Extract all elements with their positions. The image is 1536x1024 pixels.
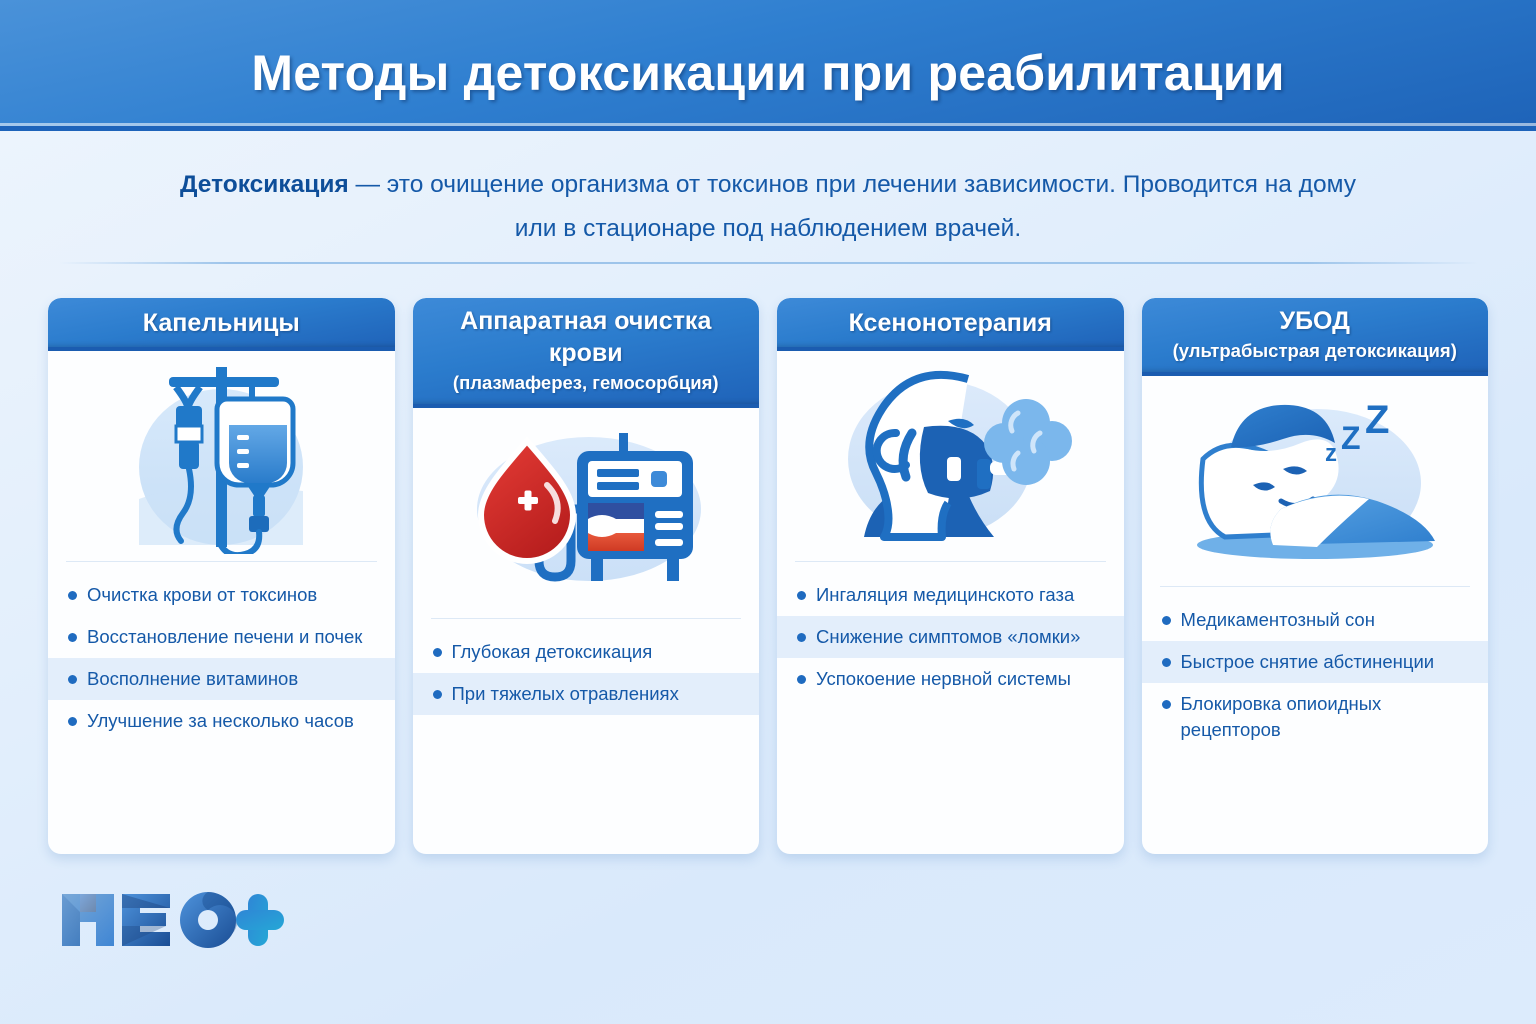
bullet-text: Медикаментозный сон xyxy=(1181,607,1475,633)
header-banner: Методы детоксикации при реабилитации xyxy=(0,0,1536,131)
bullet-text: Восстановление печени и почек xyxy=(87,624,381,650)
neo-plus-logo[interactable] xyxy=(58,886,298,952)
iv-drip-icon xyxy=(48,351,395,561)
list-item: Улучшение за несколько часов xyxy=(48,700,395,742)
bullet-dot-icon xyxy=(433,648,442,657)
list-item: Быстрое снятие абстиненции xyxy=(1142,641,1489,683)
list-item: При тяжелых отравлениях xyxy=(413,673,760,715)
benefit-list: Глубокая детоксикация При тяжелых отравл… xyxy=(413,619,760,854)
bullet-text: Очистка крови от токсинов xyxy=(87,582,381,608)
card-header-xenon-therapy: Ксенонотерапия xyxy=(777,298,1124,351)
bullet-dot-icon xyxy=(68,591,77,600)
bullet-text: Улучшение за несколько часов xyxy=(87,708,381,734)
list-item: Восстановление печени и почек xyxy=(48,616,395,658)
bullet-dot-icon xyxy=(797,675,806,684)
method-card-ubod[interactable]: УБОД (ультрабыстрая детоксикация) xyxy=(1142,298,1489,854)
intro-paragraph: Детоксикация — это очищение организма от… xyxy=(168,163,1368,251)
list-item: Блокировка опиоидных рецепторов xyxy=(1142,683,1489,751)
head-with-oxygen-mask-icon xyxy=(777,351,1124,561)
card-header-blood-purification: Аппаратная очистка крови (плазмаферез, г… xyxy=(413,298,760,408)
card-subtitle: (плазмаферез, гемосорбция) xyxy=(423,370,750,396)
svg-text:Z: Z xyxy=(1365,398,1389,442)
blood-drop-dialysis-machine-icon xyxy=(413,408,760,618)
benefit-list: Очистка крови от токсинов Восстановление… xyxy=(48,562,395,854)
bullet-text: Ингаляция медицинското газа xyxy=(816,582,1110,608)
method-card-blood-purification[interactable]: Аппаратная очистка крови (плазмаферез, г… xyxy=(413,298,760,854)
card-title: УБОД xyxy=(1152,305,1479,337)
bullet-dot-icon xyxy=(68,717,77,726)
card-title: Капельницы xyxy=(58,307,385,339)
benefit-list: Ингаляция медицинското газа Снижение сим… xyxy=(777,562,1124,854)
list-item: Снижение симптомов «ломки» xyxy=(777,616,1124,658)
card-header-ubod: УБОД (ультрабыстрая детоксикация) xyxy=(1142,298,1489,376)
bullet-dot-icon xyxy=(1162,700,1171,709)
method-cards-row: Капельницы xyxy=(48,298,1488,854)
bullet-text: Успокоение нервной системы xyxy=(816,666,1110,692)
bullet-text: Снижение симптомов «ломки» xyxy=(816,624,1110,650)
list-item: Очистка крови от токсинов xyxy=(48,574,395,616)
bullet-dot-icon xyxy=(797,591,806,600)
bullet-text: При тяжелых отравлениях xyxy=(452,681,746,707)
svg-text:z: z xyxy=(1325,440,1337,467)
bullet-dot-icon xyxy=(1162,658,1171,667)
card-title: Ксенонотерапия xyxy=(787,307,1114,339)
bullet-text: Блокировка опиоидных рецепторов xyxy=(1181,691,1475,743)
bullet-dot-icon xyxy=(433,690,442,699)
svg-text:Z: Z xyxy=(1341,420,1361,456)
bullet-text: Глубокая детоксикация xyxy=(452,639,746,665)
card-title: Аппаратная очистка крови xyxy=(423,305,750,369)
bullet-dot-icon xyxy=(68,675,77,684)
list-item: Медикаментозный сон xyxy=(1142,599,1489,641)
bullet-dot-icon xyxy=(1162,616,1171,625)
bullet-text: Восполнение витаминов xyxy=(87,666,381,692)
intro-rest-text: — это очищение организма от токсинов при… xyxy=(349,171,1356,242)
card-header-drip: Капельницы xyxy=(48,298,395,351)
intro-divider xyxy=(58,262,1478,264)
page-title: Методы детоксикации при реабилитации xyxy=(0,44,1536,102)
bullet-dot-icon xyxy=(797,633,806,642)
card-subtitle: (ультрабыстрая детоксикация) xyxy=(1152,338,1479,364)
bullet-dot-icon xyxy=(68,633,77,642)
list-item: Ингаляция медицинското газа xyxy=(777,574,1124,616)
intro-lead-term: Детоксикация xyxy=(180,171,349,198)
list-item: Успокоение нервной системы xyxy=(777,658,1124,700)
sleeping-person-icon: z Z Z xyxy=(1142,376,1489,586)
list-item: Глубокая детоксикация xyxy=(413,631,760,673)
benefit-list: Медикаментозный сон Быстрое снятие абсти… xyxy=(1142,587,1489,854)
method-card-drip[interactable]: Капельницы xyxy=(48,298,395,854)
list-item: Восполнение витаминов xyxy=(48,658,395,700)
bullet-text: Быстрое снятие абстиненции xyxy=(1181,649,1475,675)
method-card-xenon-therapy[interactable]: Ксенонотерапия xyxy=(777,298,1124,854)
